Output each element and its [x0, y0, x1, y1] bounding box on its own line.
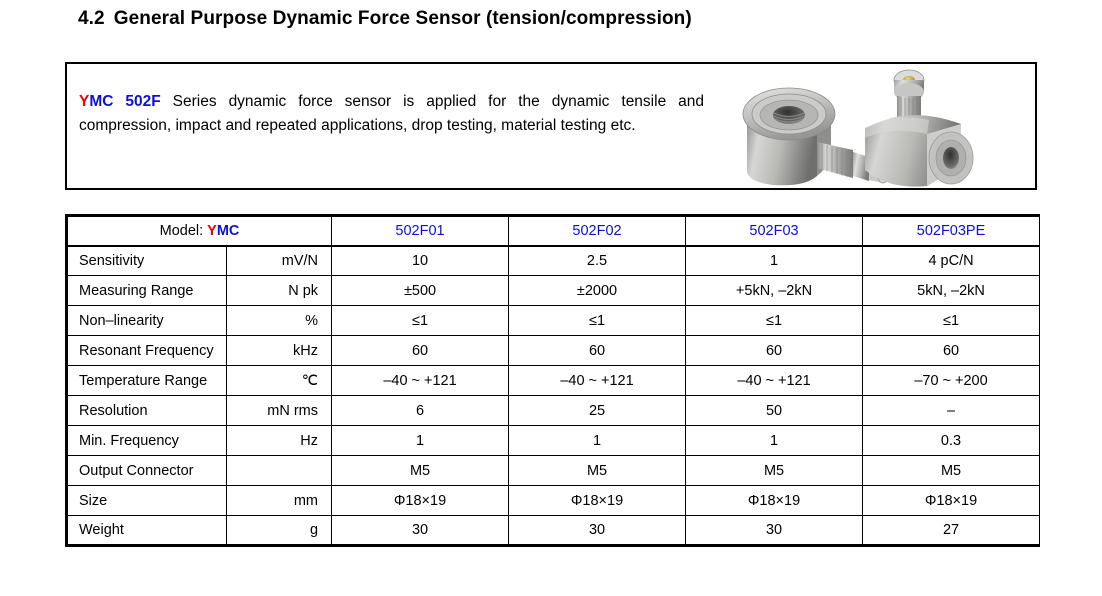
column-header-502F03: 502F03: [686, 216, 863, 246]
table-body: Sensitivity mV/N 10 2.5 1 4 pC/N Measuri…: [67, 246, 1040, 546]
row-value: 1: [332, 426, 509, 456]
row-value: 50: [686, 396, 863, 426]
table-header-row: Model: YMC 502F01 502F02 502F03 502F03PE: [67, 216, 1040, 246]
model-brand-mc: MC: [217, 223, 240, 239]
row-value: ±500: [332, 276, 509, 306]
row-value: M5: [509, 456, 686, 486]
row-parameter: Temperature Range: [67, 366, 227, 396]
row-value: 60: [686, 336, 863, 366]
row-parameter: Size: [67, 486, 227, 516]
description-body: Series dynamic force sensor is applied f…: [79, 93, 704, 134]
product-photo: [713, 66, 1033, 190]
column-header-502F03PE: 502F03PE: [863, 216, 1040, 246]
row-value: 30: [509, 516, 686, 546]
section-title-text: General Purpose Dynamic Force Sensor (te…: [114, 8, 692, 29]
row-value: Φ18×19: [509, 486, 686, 516]
row-parameter: Output Connector: [67, 456, 227, 486]
brand-mc-series: MC 502F: [89, 93, 160, 110]
row-unit: mN rms: [227, 396, 332, 426]
sensor-illustration: [713, 66, 1033, 190]
row-value: 1: [686, 246, 863, 276]
table-row: Size mm Φ18×19 Φ18×19 Φ18×19 Φ18×19: [67, 486, 1040, 516]
product-description-text: YMC 502F Series dynamic force sensor is …: [79, 90, 704, 137]
table-row: Measuring Range N pk ±500 ±2000 +5kN, –2…: [67, 276, 1040, 306]
row-value: M5: [332, 456, 509, 486]
table-row: Non–linearity % ≤1 ≤1 ≤1 ≤1: [67, 306, 1040, 336]
row-value: ≤1: [863, 306, 1040, 336]
row-parameter: Weight: [67, 516, 227, 546]
row-value: 0.3: [863, 426, 1040, 456]
table-row: Resolution mN rms 6 25 50 –: [67, 396, 1040, 426]
page-title: 4.2General Purpose Dynamic Force Sensor …: [78, 8, 692, 30]
row-value: ≤1: [332, 306, 509, 336]
row-parameter: Resolution: [67, 396, 227, 426]
row-value: ≤1: [686, 306, 863, 336]
row-value: 27: [863, 516, 1040, 546]
row-value: 30: [686, 516, 863, 546]
product-description-panel: YMC 502F Series dynamic force sensor is …: [65, 62, 1037, 190]
row-value: 1: [686, 426, 863, 456]
row-value: 60: [863, 336, 1040, 366]
table-row: Sensitivity mV/N 10 2.5 1 4 pC/N: [67, 246, 1040, 276]
row-parameter: Measuring Range: [67, 276, 227, 306]
model-label: Model:: [160, 223, 204, 239]
row-value: 5kN, –2kN: [863, 276, 1040, 306]
row-unit: kHz: [227, 336, 332, 366]
row-value: 10: [332, 246, 509, 276]
row-parameter: Sensitivity: [67, 246, 227, 276]
row-value: 60: [332, 336, 509, 366]
column-header-502F02: 502F02: [509, 216, 686, 246]
row-unit: mm: [227, 486, 332, 516]
row-unit: g: [227, 516, 332, 546]
row-value: –40 ~ +121: [686, 366, 863, 396]
table-row: Min. Frequency Hz 1 1 1 0.3: [67, 426, 1040, 456]
row-value: –40 ~ +121: [509, 366, 686, 396]
specification-table-container: Model: YMC 502F01 502F02 502F03 502F03PE…: [65, 214, 1040, 547]
row-parameter: Resonant Frequency: [67, 336, 227, 366]
brand-y-letter: Y: [79, 93, 89, 110]
row-unit: %: [227, 306, 332, 336]
row-parameter: Min. Frequency: [67, 426, 227, 456]
row-value: –: [863, 396, 1040, 426]
row-value: 2.5: [509, 246, 686, 276]
row-value: 30: [332, 516, 509, 546]
row-value: 6: [332, 396, 509, 426]
row-value: M5: [863, 456, 1040, 486]
row-unit: mV/N: [227, 246, 332, 276]
table-row: Temperature Range ℃ –40 ~ +121 –40 ~ +12…: [67, 366, 1040, 396]
row-value: Φ18×19: [686, 486, 863, 516]
table-row: Weight g 30 30 30 27: [67, 516, 1040, 546]
table-header: Model: YMC 502F01 502F02 502F03 502F03PE: [67, 216, 1040, 246]
row-value: ≤1: [509, 306, 686, 336]
row-value: 1: [509, 426, 686, 456]
model-brand-y: Y: [207, 223, 217, 239]
row-value: –70 ~ +200: [863, 366, 1040, 396]
specification-table: Model: YMC 502F01 502F02 502F03 502F03PE…: [65, 214, 1040, 547]
row-value: 25: [509, 396, 686, 426]
row-value: 4 pC/N: [863, 246, 1040, 276]
row-value: 60: [509, 336, 686, 366]
table-row: Output Connector M5 M5 M5 M5: [67, 456, 1040, 486]
row-value: Φ18×19: [863, 486, 1040, 516]
table-row: Resonant Frequency kHz 60 60 60 60: [67, 336, 1040, 366]
row-unit: ℃: [227, 366, 332, 396]
row-value: ±2000: [509, 276, 686, 306]
sensor-right: [865, 70, 973, 187]
row-unit: Hz: [227, 426, 332, 456]
row-value: M5: [686, 456, 863, 486]
row-value: Φ18×19: [332, 486, 509, 516]
row-value: +5kN, –2kN: [686, 276, 863, 306]
row-parameter: Non–linearity: [67, 306, 227, 336]
row-value: –40 ~ +121: [332, 366, 509, 396]
row-unit: N pk: [227, 276, 332, 306]
section-number: 4.2: [78, 8, 105, 29]
model-header-cell: Model: YMC: [67, 216, 332, 246]
column-header-502F01: 502F01: [332, 216, 509, 246]
row-unit: [227, 456, 332, 486]
